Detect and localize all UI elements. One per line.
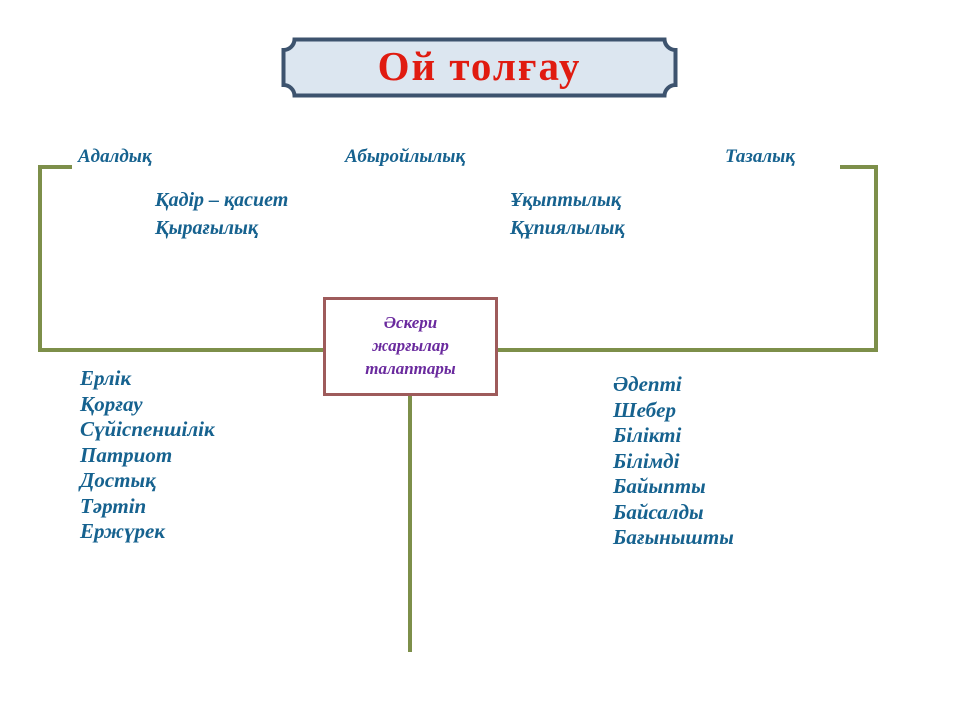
list-item: Байыпты bbox=[613, 474, 734, 500]
list-item: Әдепті bbox=[613, 372, 734, 398]
sub-label-qyragylyq: Қырағылық bbox=[155, 217, 258, 240]
list-item: Шебер bbox=[613, 398, 734, 424]
list-item: Білікті bbox=[613, 423, 734, 449]
page-title: Ой толғау bbox=[281, 37, 678, 98]
sub-label-uqyptylyq: Ұқыптылық bbox=[510, 189, 621, 212]
list-item: Ерлік bbox=[80, 366, 215, 392]
center-node-line-3: талаптары bbox=[365, 358, 455, 381]
list-item: Бағынышты bbox=[613, 525, 734, 551]
connector-left-top-stub bbox=[38, 165, 72, 169]
right-word-list: Әдепті Шебер Білікті Білімді Байыпты Бай… bbox=[613, 372, 734, 551]
connector-left-horizontal bbox=[38, 348, 328, 352]
connector-right-vertical bbox=[874, 167, 878, 352]
center-node-line-2: жарғылар bbox=[372, 335, 449, 358]
list-item: Патриот bbox=[80, 443, 215, 469]
title-plaque: Ой толғау bbox=[281, 37, 678, 98]
connector-right-horizontal bbox=[493, 348, 878, 352]
list-item: Тәртіп bbox=[80, 494, 215, 520]
center-node-line-1: Әскери bbox=[384, 312, 437, 335]
connector-bottom-stem bbox=[408, 396, 412, 652]
sub-label-qupiyalylyq: Құпиялылық bbox=[510, 217, 625, 240]
top-label-tazalyq: Тазалық bbox=[725, 146, 795, 168]
connector-left-vertical bbox=[38, 167, 42, 352]
list-item: Достық bbox=[80, 468, 215, 494]
left-word-list: Ерлік Қорғау Сүйіспеншілік Патриот Досты… bbox=[80, 366, 215, 545]
list-item: Ержүрек bbox=[80, 519, 215, 545]
top-label-abyroilylyq: Абыройлылық bbox=[345, 146, 465, 168]
center-node: Әскери жарғылар талаптары bbox=[323, 297, 498, 396]
list-item: Білімді bbox=[613, 449, 734, 475]
top-label-adaldyq: Адалдық bbox=[78, 146, 152, 168]
list-item: Қорғау bbox=[80, 392, 215, 418]
list-item: Байсалды bbox=[613, 500, 734, 526]
list-item: Сүйіспеншілік bbox=[80, 417, 215, 443]
slide-canvas: Ой толғау Әскери жарғылар талаптары Адал… bbox=[0, 0, 960, 720]
sub-label-qadir-qasiet: Қадір – қасиет bbox=[155, 189, 288, 212]
connector-right-top-stub bbox=[840, 165, 878, 169]
